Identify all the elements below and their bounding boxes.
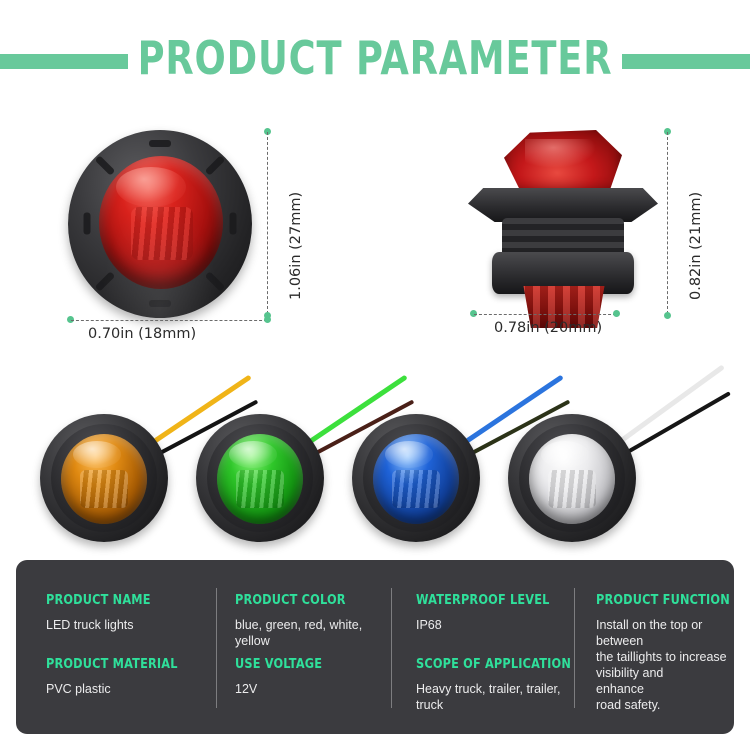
housing-notch	[149, 140, 171, 147]
lamp-housing	[196, 414, 324, 542]
dimension-label-front-height: 1.06in (27mm)	[288, 192, 304, 300]
spec-value: PVC plastic	[46, 681, 206, 697]
lamp-housing	[352, 414, 480, 542]
lamp-lens-white	[529, 434, 615, 524]
housing-notch	[205, 271, 226, 292]
spec-value: Heavy truck, trailer, trailer, truck	[416, 681, 588, 713]
page-header: PRODUCT PARAMETER	[0, 30, 750, 92]
housing-notch	[95, 155, 116, 176]
spec-value: LED truck lights	[46, 617, 206, 633]
housing-notch	[95, 271, 116, 292]
dimension-line-horizontal	[474, 314, 616, 315]
lamp-lens-red-top	[504, 130, 622, 196]
lamp-mounting-flange	[468, 188, 658, 222]
spec-item-product-material: PRODUCT MATERIAL PVC plastic	[46, 656, 206, 697]
lamp-lens-amber	[61, 434, 147, 524]
spec-value: IP68	[416, 617, 581, 633]
dimension-label-side-height: 0.82in (21mm)	[688, 192, 704, 300]
dimension-endpoint-dot	[664, 312, 671, 319]
product-parameter-page: PRODUCT PARAMETER 1.06in (27mm) 0.70in (…	[0, 0, 750, 750]
column-divider	[216, 588, 217, 708]
spec-header: USE VOLTAGE	[235, 656, 374, 672]
spec-item-use-voltage: USE VOLTAGE 12V	[235, 656, 400, 697]
color-variant-green	[196, 414, 324, 542]
housing-notch	[205, 155, 226, 176]
dimension-label-side-width: 0.78in (20mm)	[494, 320, 602, 336]
spec-value: 12V	[235, 681, 400, 697]
spec-header: PRODUCT NAME	[46, 592, 180, 608]
spec-value: Install on the top or between the tailli…	[596, 617, 731, 713]
housing-notch	[149, 300, 171, 307]
page-title: PRODUCT PARAMETER	[75, 30, 675, 86]
dimension-line-vertical	[667, 132, 668, 314]
dimension-label-front-width: 0.70in (18mm)	[88, 326, 196, 342]
lamp-lens-red	[99, 156, 223, 289]
spec-item-scope-of-application: SCOPE OF APPLICATION Heavy truck, traile…	[416, 656, 588, 713]
color-variant-white	[508, 414, 636, 542]
color-variant-amber	[40, 414, 168, 542]
color-variant-blue	[352, 414, 480, 542]
housing-notch	[230, 213, 237, 235]
spec-header: PRODUCT MATERIAL	[46, 656, 180, 672]
dimension-line-horizontal	[71, 320, 267, 321]
dimension-endpoint-dot	[264, 316, 271, 323]
spec-item-waterproof-level: WATERPROOF LEVEL IP68	[416, 592, 581, 633]
spec-header: WATERPROOF LEVEL	[416, 592, 555, 608]
dimension-line-vertical	[267, 132, 268, 314]
lamp-lens-blue	[373, 434, 459, 524]
product-photo-front-view	[60, 126, 260, 324]
spec-item-product-function: PRODUCT FUNCTION Install on the top or b…	[596, 592, 731, 713]
spec-header: PRODUCT COLOR	[235, 592, 374, 608]
spec-item-product-color: PRODUCT COLOR blue, green, red, white, y…	[235, 592, 400, 649]
spec-header: SCOPE OF APPLICATION	[416, 656, 560, 672]
lamp-housing	[508, 414, 636, 542]
spec-value: blue, green, red, white, yellow	[235, 617, 400, 649]
lamp-lens-green	[217, 434, 303, 524]
lamp-housing	[68, 130, 252, 318]
housing-notch	[84, 213, 91, 235]
spec-item-product-name: PRODUCT NAME LED truck lights	[46, 592, 206, 633]
lamp-housing	[40, 414, 168, 542]
product-photo-side-view	[462, 126, 662, 324]
specification-panel: PRODUCT NAME LED truck lights PRODUCT MA…	[16, 560, 734, 734]
color-variants-row	[0, 352, 750, 542]
dimension-endpoint-dot	[613, 310, 620, 317]
spec-header: PRODUCT FUNCTION	[596, 592, 709, 608]
